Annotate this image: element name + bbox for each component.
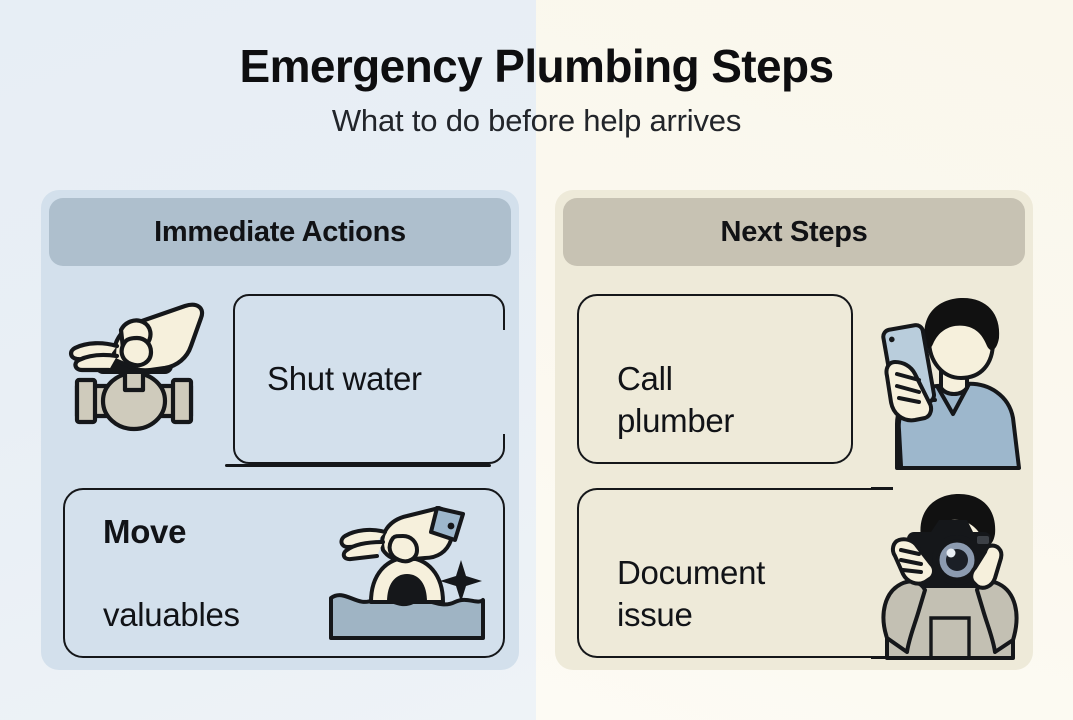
panel-immediate-actions: Immediate Actions [41, 190, 519, 670]
card-list-immediate-actions: Shut water Move valuables [41, 294, 519, 658]
hand-water-rescue-icon [327, 506, 487, 641]
card-label-text: Document issue [617, 554, 765, 633]
card-document-issue[interactable]: Document issue [577, 488, 853, 658]
card-shut-water-row: Shut water [41, 294, 519, 464]
valve-hand-icon [59, 302, 209, 442]
person-phone-icon [873, 296, 1023, 468]
card-call-plumber[interactable]: Call plumber [577, 294, 853, 464]
card-label-call-plumber: Call plumber [617, 317, 734, 442]
page-title: Emergency Plumbing Steps [0, 0, 1073, 93]
card-shut-water[interactable]: Shut water [233, 294, 505, 464]
panel-header-next-steps: Next Steps [563, 198, 1025, 266]
card-list-next-steps: Call plumber [555, 294, 1033, 658]
card-label-move-valuables: Move valuables [103, 469, 240, 677]
card-label-document-issue: Document issue [617, 511, 765, 636]
header: Emergency Plumbing Steps What to do befo… [0, 0, 1073, 139]
panel-header-immediate-actions: Immediate Actions [49, 198, 511, 266]
person-camera-icon [873, 488, 1025, 658]
panels-row: Immediate Actions [0, 190, 1073, 670]
page-subtitle: What to do before help arrives [0, 93, 1073, 139]
card-label-shut-water: Shut water [233, 317, 422, 442]
card-move-valuables[interactable]: Move valuables [63, 488, 505, 658]
panel-next-steps: Next Steps Call plumber [555, 190, 1033, 670]
card-label-text: Shut water [267, 358, 422, 400]
card-label-bold: Move [103, 511, 240, 553]
card-label-text: valuables [103, 594, 240, 636]
card-underline-shut-water [225, 464, 491, 467]
card-label-text: Call plumber [617, 360, 734, 439]
